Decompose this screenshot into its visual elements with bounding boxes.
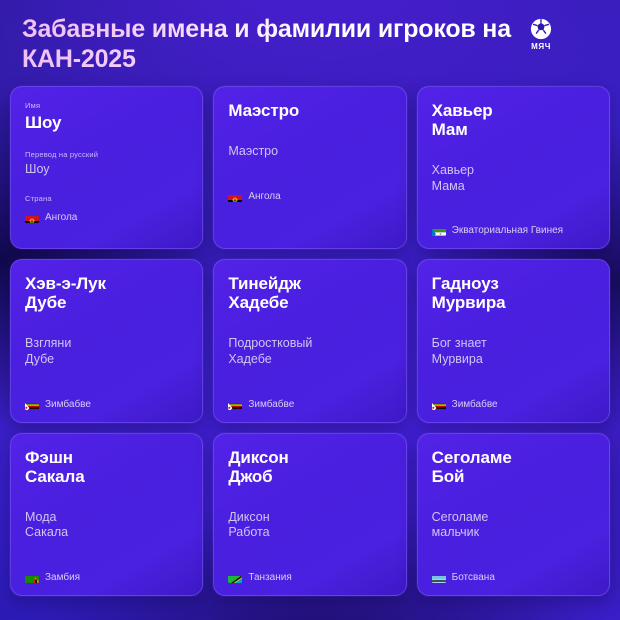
country-row: Ботсвана (432, 573, 595, 583)
country-block: Страна Ангола (25, 194, 188, 223)
spacer (25, 178, 188, 194)
player-card[interactable]: Имя Шоу Перевод на русский Шоу Страна Ан… (10, 86, 203, 249)
country-row: Танзания (228, 573, 391, 583)
infographic-root: Забавные имена и фамилии игроков на КАН-… (0, 0, 620, 620)
country-name: Ангола (248, 192, 280, 202)
player-translation: Подростковый Хадебе (228, 336, 391, 367)
country-name: Ангола (45, 213, 77, 223)
country-name: Зимбабве (452, 400, 498, 410)
player-translation: Бог знает Мурвира (432, 336, 595, 367)
cards-grid: Имя Шоу Перевод на русский Шоу Страна Ан… (0, 74, 620, 606)
spacer (25, 312, 188, 336)
country-name: Зимбабве (45, 400, 91, 410)
spacer (25, 486, 188, 510)
player-name: Хэв-э-Лук Дубе (25, 274, 188, 312)
player-name: Гадноуз Мурвира (432, 274, 595, 312)
country-name: Зимбабве (248, 400, 294, 410)
player-translation: Сеголаме мальчик (432, 510, 595, 541)
flag-angola-icon (228, 192, 242, 202)
country-row: Зимбабве (25, 400, 188, 410)
header: Забавные имена и фамилии игроков на КАН-… (0, 0, 620, 74)
country-row: Ангола (228, 192, 391, 202)
country-row: Зимбабве (432, 400, 595, 410)
player-name: Шоу (25, 113, 188, 132)
spacer (25, 541, 188, 563)
flag-zimbabwe-icon (25, 400, 39, 410)
soccer-ball-icon (530, 18, 552, 40)
country-row: Замбия (25, 573, 188, 583)
player-name: Сеголаме Бой (432, 448, 595, 486)
country-label: Страна (25, 194, 188, 203)
player-name: Фэшн Сакала (25, 448, 188, 486)
brand-logo: МЯЧ (522, 18, 560, 51)
name-label: Имя (25, 101, 188, 110)
flag-angola-icon (25, 213, 39, 223)
country-name: Экваториальная Гвинея (452, 226, 563, 236)
player-card[interactable]: Хавьер Мам Хавьер Мама Экваториальная Гв… (417, 86, 610, 249)
spacer (432, 368, 595, 390)
player-translation: Хавьер Мама (432, 163, 595, 194)
player-translation: Мода Сакала (25, 510, 188, 541)
flag-zambia-icon (25, 573, 39, 583)
player-card[interactable]: Хэв-э-Лук Дубе Взгляни Дубе Зимбабве (10, 259, 203, 422)
country-name: Ботсвана (452, 573, 495, 583)
spacer (25, 368, 188, 390)
player-translation: Взгляни Дубе (25, 336, 188, 367)
country-row: Ангола (25, 213, 188, 223)
spacer (228, 120, 391, 144)
flag-botswana-icon (432, 573, 446, 583)
country-name: Замбия (45, 573, 80, 583)
player-translation: Маэстро (228, 144, 391, 160)
spacer (228, 541, 391, 563)
spacer (432, 194, 595, 216)
player-card[interactable]: Маэстро Маэстро Ангола (213, 86, 406, 249)
spacer (228, 368, 391, 390)
brand-name: МЯЧ (531, 42, 551, 51)
spacer (228, 486, 391, 510)
flag-equatorial-guinea-icon (432, 226, 446, 236)
spacer (228, 160, 391, 182)
flag-tanzania-icon (228, 573, 242, 583)
spacer (432, 139, 595, 163)
player-name: Хавьер Мам (432, 101, 595, 139)
spacer (25, 132, 188, 150)
player-translation: Диксон Работа (228, 510, 391, 541)
page-title: Забавные имена и фамилии игроков на КАН-… (22, 14, 522, 74)
country-row: Экваториальная Гвинея (432, 226, 595, 236)
country-name: Танзания (248, 573, 291, 583)
translation-label: Перевод на русский (25, 150, 188, 159)
country-row: Зимбабве (228, 400, 391, 410)
player-name: Тинейдж Хадебе (228, 274, 391, 312)
player-translation: Шоу (25, 162, 188, 178)
player-name: Диксон Джоб (228, 448, 391, 486)
flag-zimbabwe-icon (432, 400, 446, 410)
spacer (432, 486, 595, 510)
player-name: Маэстро (228, 101, 391, 120)
player-card[interactable]: Фэшн Сакала Мода Сакала Замбия (10, 433, 203, 596)
translation-block: Перевод на русский Шоу (25, 150, 188, 178)
player-card[interactable]: Тинейдж Хадебе Подростковый Хадебе Зимба… (213, 259, 406, 422)
player-card[interactable]: Сеголаме Бой Сеголаме мальчик Ботсвана (417, 433, 610, 596)
name-block: Имя Шоу (25, 101, 188, 132)
spacer (432, 312, 595, 336)
player-card[interactable]: Гадноуз Мурвира Бог знает Мурвира Зимбаб… (417, 259, 610, 422)
flag-zimbabwe-icon (228, 400, 242, 410)
player-card[interactable]: Диксон Джоб Диксон Работа Танзания (213, 433, 406, 596)
spacer (432, 541, 595, 563)
spacer (228, 312, 391, 336)
